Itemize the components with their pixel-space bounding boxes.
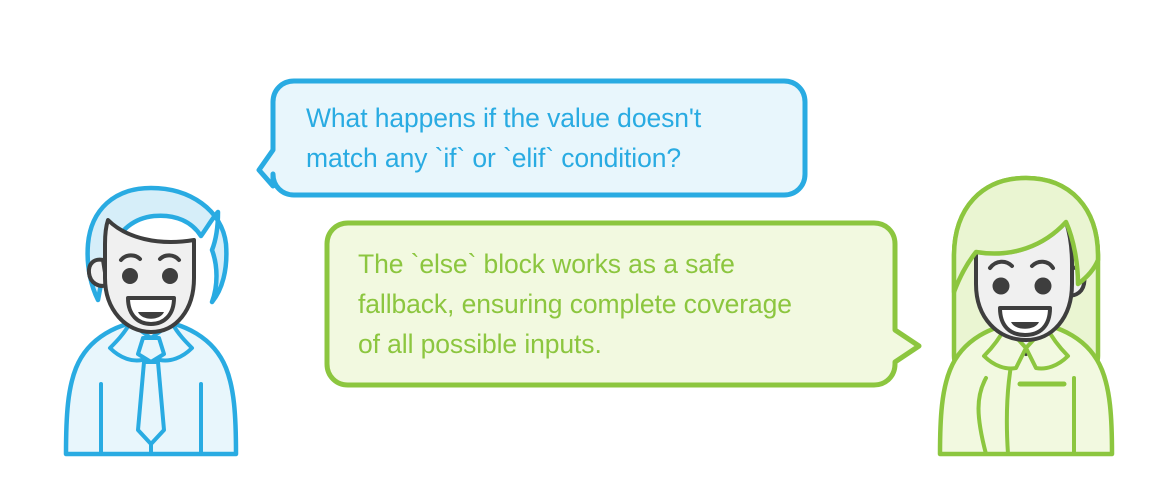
eye-left-icon [993,278,1010,295]
eye-right-icon [1035,278,1052,295]
mouth-smile-icon [128,298,174,324]
necktie-blade-icon [138,362,164,444]
male-avatar-head-group [88,188,227,332]
mouth-smile-icon [1000,308,1050,335]
eye-left-icon [122,268,138,284]
left-character-male-avatar [58,182,244,454]
answer-speech-bubble: The `else` block works as a safe fallbac… [322,220,922,388]
question-speech-bubble: What happens if the value doesn't match … [256,78,808,198]
eye-right-icon [162,268,178,284]
necktie-knot-icon [138,338,164,362]
answer-bubble-text: The `else` block works as a safe fallbac… [322,244,832,364]
right-character-female-avatar [928,172,1124,454]
question-bubble-text: What happens if the value doesn't match … [256,98,725,178]
illustration-scene: What happens if the value doesn't match … [0,0,1176,492]
